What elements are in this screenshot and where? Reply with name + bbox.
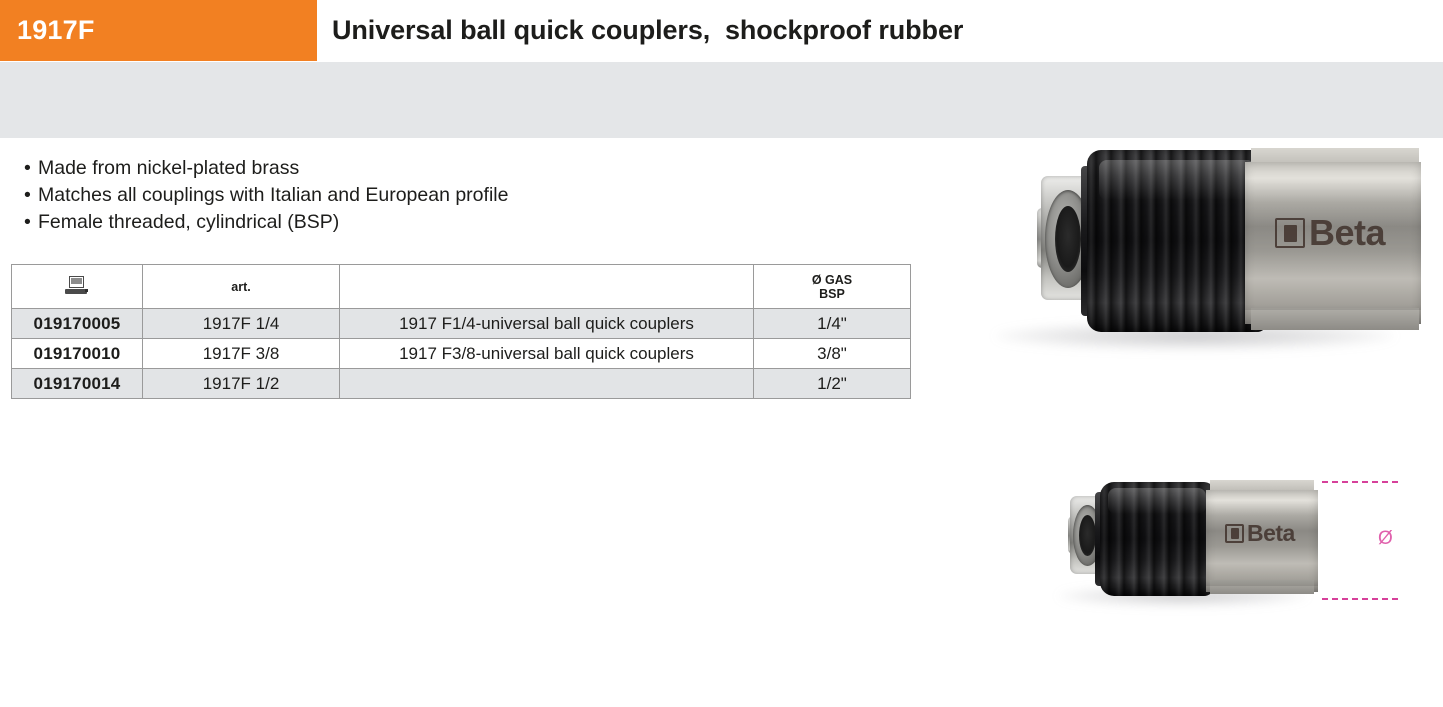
computer-icon [65, 276, 89, 295]
coupler-illustration-small: Beta [1040, 470, 1330, 610]
cell-gas: 1/4" [754, 309, 911, 339]
table-row[interactable]: 019170014 1917F 1/2 1/2" [12, 369, 911, 399]
table-row[interactable]: 019170005 1917F 1/4 1917 F1/4-universal … [12, 309, 911, 339]
product-table: art. Ø GAS BSP 019170005 1917F 1/4 1917 … [11, 264, 911, 399]
feature-item: •Matches all couplings with Italian and … [24, 182, 924, 209]
column-header-art: art. [143, 265, 340, 309]
nipple-bore-inner [1079, 515, 1096, 556]
hex-chamfer-bottom [1251, 308, 1419, 330]
feature-item: •Made from nickel-plated brass [24, 155, 924, 182]
feature-text: Matches all couplings with Italian and E… [38, 184, 508, 206]
dimension-line-top [1322, 481, 1398, 483]
beta-wordmark: Beta [1247, 520, 1295, 547]
table-head: art. Ø GAS BSP [12, 265, 911, 309]
table-body: 019170005 1917F 1/4 1917 F1/4-universal … [12, 309, 911, 399]
cell-art: 1917F 3/8 [143, 339, 340, 369]
product-photo-dimension: Beta [1040, 470, 1330, 610]
bullet-icon: • [24, 182, 38, 209]
rubber-sleeve [1100, 482, 1214, 596]
dimension-line-bottom [1322, 598, 1398, 600]
feature-list: •Made from nickel-plated brass •Matches … [24, 155, 924, 236]
product-code-block: 1917F [0, 0, 317, 61]
product-photo-main: Beta [955, 140, 1443, 360]
beta-wordmark: Beta [1309, 212, 1385, 254]
beta-logo: Beta [1275, 212, 1385, 254]
dimension-symbol: Ø [1378, 528, 1393, 550]
column-header-code [12, 265, 143, 309]
nipple-bore-inner [1055, 206, 1081, 272]
bullet-icon: • [24, 155, 38, 182]
header-grey-band [0, 62, 1443, 138]
cell-code: 019170010 [12, 339, 143, 369]
rubber-sleeve [1087, 150, 1267, 332]
cell-description: 1917 F3/8-universal ball quick couplers [340, 339, 754, 369]
beta-mark-icon [1225, 524, 1244, 543]
cell-gas: 1/2" [754, 369, 911, 399]
page-header: 1917F Universal ball quick couplers, sho… [0, 0, 1443, 61]
feature-text: Made from nickel-plated brass [38, 157, 299, 179]
cell-gas: 3/8" [754, 339, 911, 369]
table-header-row: art. Ø GAS BSP [12, 265, 911, 309]
column-header-gas-line2: BSP [819, 287, 845, 301]
page-title: Universal ball quick couplers, shockproo… [332, 15, 963, 46]
column-header-description [340, 265, 754, 309]
feature-item: •Female threaded, cylindrical (BSP) [24, 209, 924, 236]
cell-art: 1917F 1/2 [143, 369, 340, 399]
beta-mark-icon [1275, 218, 1305, 248]
column-header-gas-line1: Ø GAS [812, 273, 852, 287]
cell-art: 1917F 1/4 [143, 309, 340, 339]
beta-logo: Beta [1225, 520, 1295, 547]
bullet-icon: • [24, 209, 38, 236]
coupler-illustration: Beta [955, 140, 1443, 360]
cell-code: 019170014 [12, 369, 143, 399]
cell-description [340, 369, 754, 399]
table-row[interactable]: 019170010 1917F 3/8 1917 F3/8-universal … [12, 339, 911, 369]
feature-text: Female threaded, cylindrical (BSP) [38, 211, 339, 233]
column-header-gas: Ø GAS BSP [754, 265, 911, 309]
product-code: 1917F [17, 15, 95, 46]
page-title-zone: Universal ball quick couplers, shockproo… [317, 0, 1443, 61]
cell-code: 019170005 [12, 309, 143, 339]
cell-description: 1917 F1/4-universal ball quick couplers [340, 309, 754, 339]
